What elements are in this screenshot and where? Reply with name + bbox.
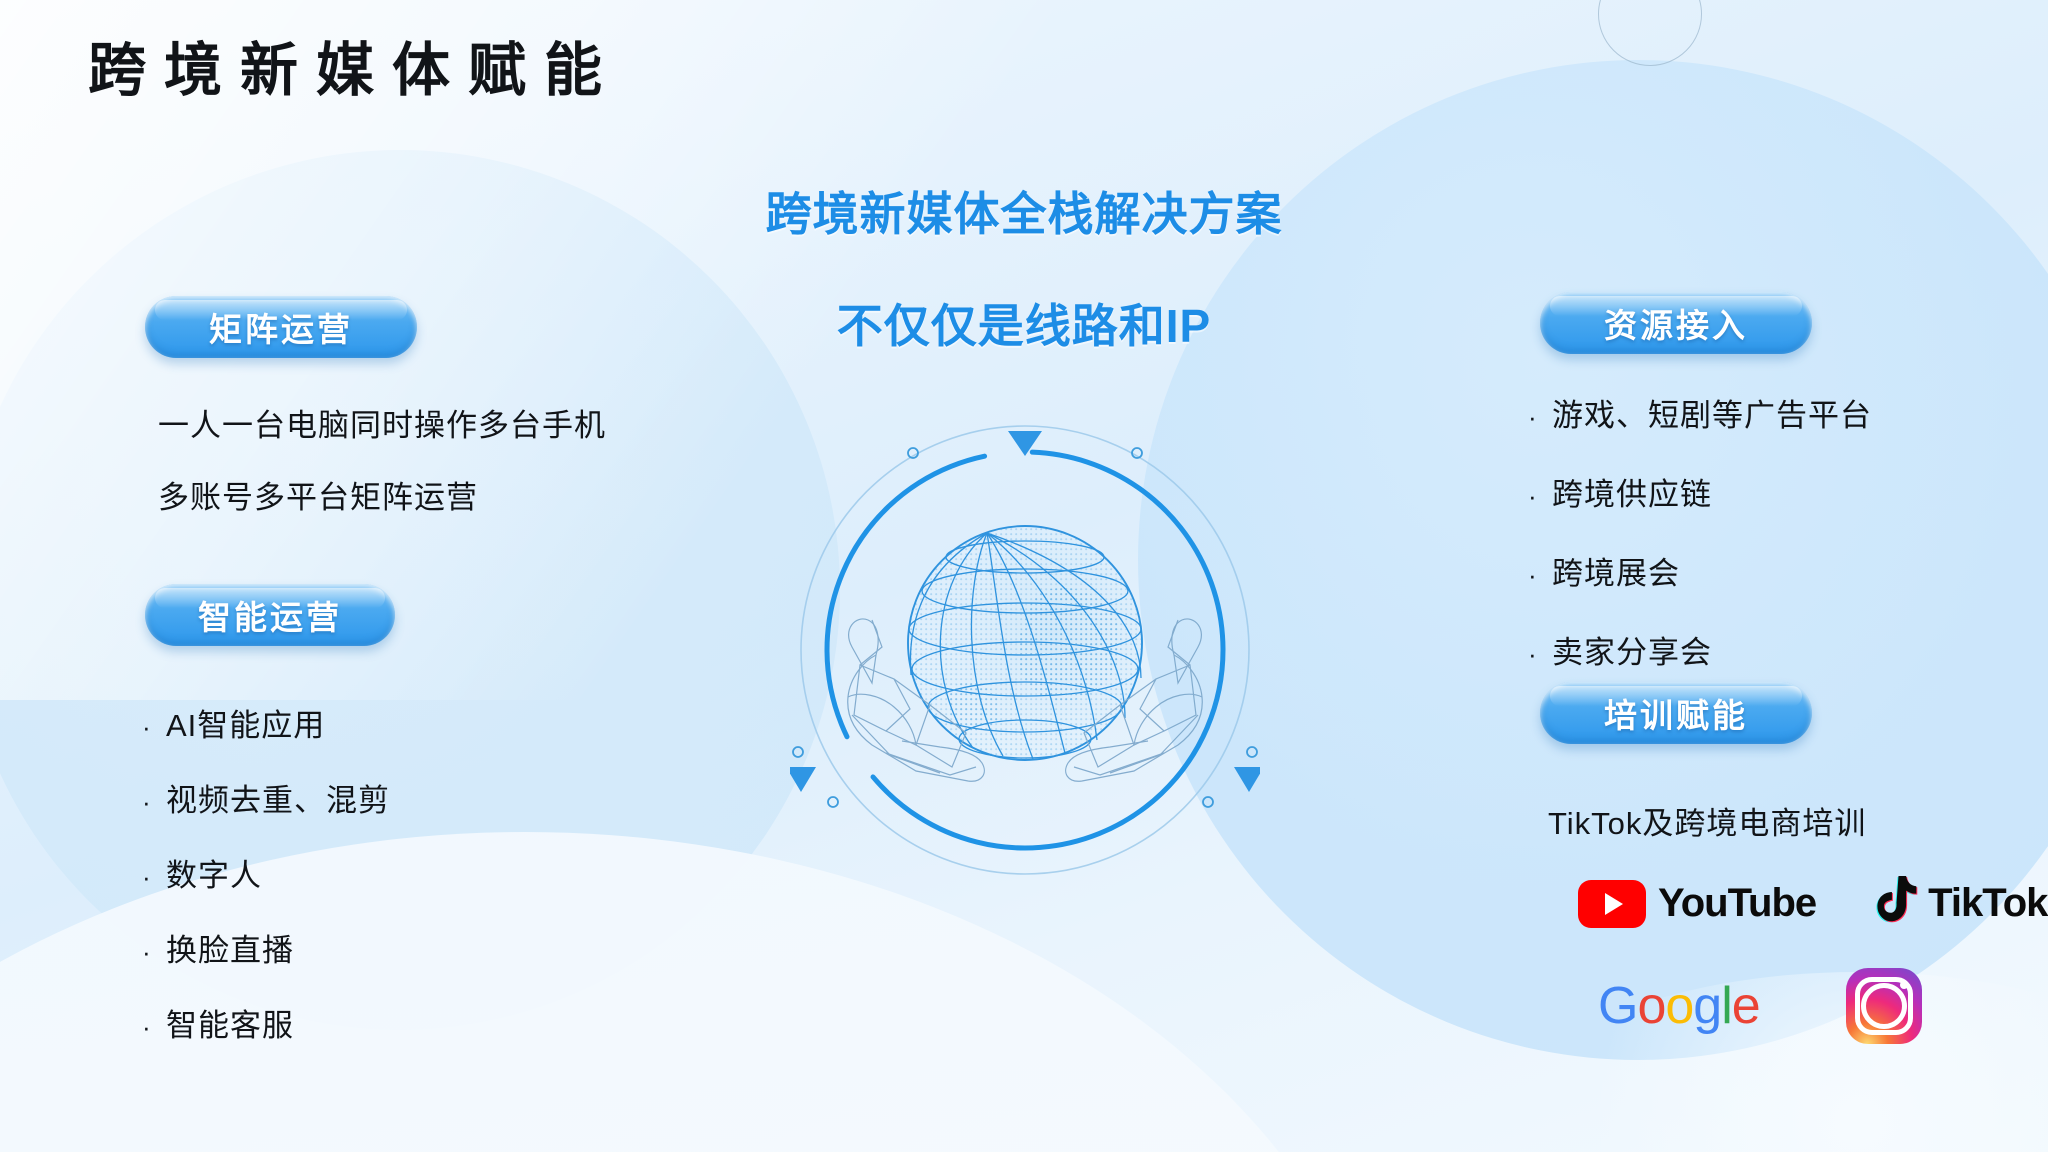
decorative-ring-icon bbox=[1598, 0, 1702, 66]
list-item-label: 智能客服 bbox=[166, 1000, 294, 1045]
list-item-label: 视频去重、混剪 bbox=[166, 775, 390, 820]
center-heading-primary: 跨境新媒体全栈解决方案 bbox=[512, 178, 1536, 244]
youtube-logo[interactable]: YouTube bbox=[1578, 880, 1816, 928]
tiktok-note-icon bbox=[1872, 875, 1918, 932]
logo-row-bottom: Google bbox=[1598, 968, 1922, 1044]
list-item: · AI智能应用 bbox=[142, 700, 390, 745]
list-item: · 游戏、短剧等广告平台 bbox=[1528, 390, 1872, 435]
google-letter: G bbox=[1598, 977, 1637, 1035]
google-letter: g bbox=[1693, 977, 1721, 1035]
list-item: · 换脸直播 bbox=[142, 925, 390, 970]
list-item-label: AI智能应用 bbox=[166, 700, 325, 745]
youtube-play-icon bbox=[1578, 880, 1646, 928]
list-item: · 卖家分享会 bbox=[1528, 627, 1872, 672]
youtube-logo-label: YouTube bbox=[1658, 881, 1816, 926]
list-item: · 跨境展会 bbox=[1528, 548, 1872, 593]
pill-resource-access[interactable]: 资源接入 bbox=[1540, 292, 1812, 354]
left-text-line-2: 多账号多平台矩阵运营 bbox=[158, 472, 478, 517]
tiktok-logo-label: TikTok bbox=[1928, 881, 2047, 926]
list-item: · 跨境供应链 bbox=[1528, 469, 1872, 514]
bullet-dot-icon: · bbox=[142, 787, 166, 818]
pill-training-empowerment[interactable]: 培训赋能 bbox=[1540, 682, 1812, 744]
bullet-dot-icon: · bbox=[1528, 481, 1552, 512]
list-item: · 数字人 bbox=[142, 850, 390, 895]
bullet-dot-icon: · bbox=[142, 712, 166, 743]
bullet-dot-icon: · bbox=[142, 937, 166, 968]
list-item: · 智能客服 bbox=[142, 1000, 390, 1045]
center-headings: 跨境新媒体全栈解决方案 不仅仅是线路和IP bbox=[512, 178, 1536, 356]
bullet-dot-icon: · bbox=[1528, 402, 1552, 433]
page-title: 跨境新媒体赋能 bbox=[88, 36, 620, 106]
logo-row-top: YouTube TikTok bbox=[1578, 875, 2047, 932]
instagram-logo[interactable] bbox=[1846, 968, 1922, 1044]
list-item-label: 游戏、短剧等广告平台 bbox=[1552, 390, 1872, 435]
bullet-dot-icon: · bbox=[1528, 560, 1552, 591]
list-item: · 视频去重、混剪 bbox=[142, 775, 390, 820]
google-logo[interactable]: Google bbox=[1598, 976, 1760, 1036]
bullet-dot-icon: · bbox=[1528, 639, 1552, 670]
list-item-label: 数字人 bbox=[166, 850, 262, 895]
center-heading-secondary: 不仅仅是线路和IP bbox=[512, 290, 1536, 356]
google-letter: o bbox=[1637, 977, 1665, 1035]
google-letter: e bbox=[1732, 977, 1760, 1035]
right-bullet-list: · 游戏、短剧等广告平台 · 跨境供应链 · 跨境展会 · 卖家分享会 bbox=[1528, 390, 1872, 706]
google-letter: l bbox=[1721, 977, 1732, 1035]
list-item-label: 换脸直播 bbox=[166, 925, 294, 970]
left-bullet-list: · AI智能应用 · 视频去重、混剪 · 数字人 · 换脸直播 · 智能客服 bbox=[142, 700, 390, 1075]
instagram-dot-icon bbox=[1900, 981, 1908, 989]
bullet-dot-icon: · bbox=[142, 862, 166, 893]
instagram-lens-icon bbox=[1861, 983, 1907, 1029]
bullet-dot-icon: · bbox=[142, 1012, 166, 1043]
tiktok-logo[interactable]: TikTok bbox=[1872, 875, 2047, 932]
globe-in-hands-illustration bbox=[790, 415, 1260, 885]
list-item-label: 跨境供应链 bbox=[1552, 469, 1712, 514]
training-description: TikTok及跨境电商培训 bbox=[1548, 798, 1866, 843]
google-letter: o bbox=[1665, 977, 1693, 1035]
pill-smart-operations[interactable]: 智能运营 bbox=[145, 584, 395, 646]
slide-canvas: 跨境新媒体赋能 跨境新媒体全栈解决方案 不仅仅是线路和IP bbox=[0, 0, 2048, 1152]
pill-matrix-operations[interactable]: 矩阵运营 bbox=[145, 296, 417, 358]
list-item-label: 跨境展会 bbox=[1552, 548, 1680, 593]
list-item-label: 卖家分享会 bbox=[1552, 627, 1712, 672]
left-text-line-1: 一人一台电脑同时操作多台手机 bbox=[158, 400, 606, 445]
